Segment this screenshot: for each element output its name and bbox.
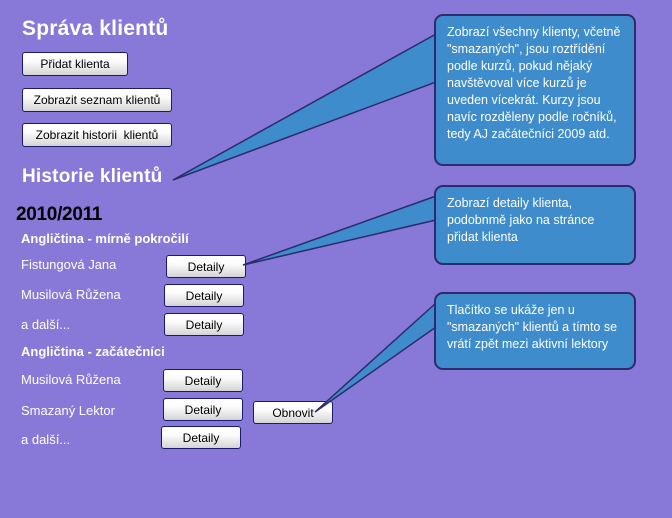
school-year-label: 2010/2011 [16,204,102,226]
callout-tail-detail-button [243,196,436,265]
list-item-name: Musilová Růžena [21,372,121,387]
page-title: Správa klientů [22,17,168,41]
list-item-name: Smazaný Lektor [21,403,115,418]
history-section-title: Historie klientů [22,166,162,188]
callout-tail-client-list [173,34,436,180]
detail-button[interactable]: Detaily [163,398,243,421]
page-root: Správa klientů Přidat klienta Zobrazit s… [0,0,672,518]
detail-button[interactable]: Detaily [163,369,243,392]
show-client-list-button[interactable]: Zobrazit seznam klientů [22,88,172,112]
detail-button[interactable]: Detaily [161,426,241,449]
callout-restore-button: Tlačítko se ukáže jen u "smazaných" klie… [434,292,636,370]
course-heading-0: Angličtina - mírně pokročilí [21,231,189,246]
course-heading-1: Angličtina - začátečníci [21,344,165,359]
list-item-name: Fistungová Jana [21,257,116,272]
callout-tail-restore-button [315,303,436,412]
detail-button[interactable]: Detaily [164,313,244,336]
list-item-name: a další... [21,317,70,332]
add-client-button[interactable]: Přidat klienta [22,52,128,76]
detail-button[interactable]: Detaily [166,255,246,278]
list-item-name: Musilová Růžena [21,287,121,302]
callout-client-list: Zobrazí všechny klienty, včetně "smazaný… [434,14,636,166]
restore-button[interactable]: Obnovit [253,401,333,424]
list-item-name: a další... [21,432,70,447]
callout-detail-button: Zobrazí detaily klienta, podobnmě jako n… [434,185,636,265]
detail-button[interactable]: Detaily [164,284,244,307]
show-client-history-button[interactable]: Zobrazit historii klientů [22,123,172,147]
